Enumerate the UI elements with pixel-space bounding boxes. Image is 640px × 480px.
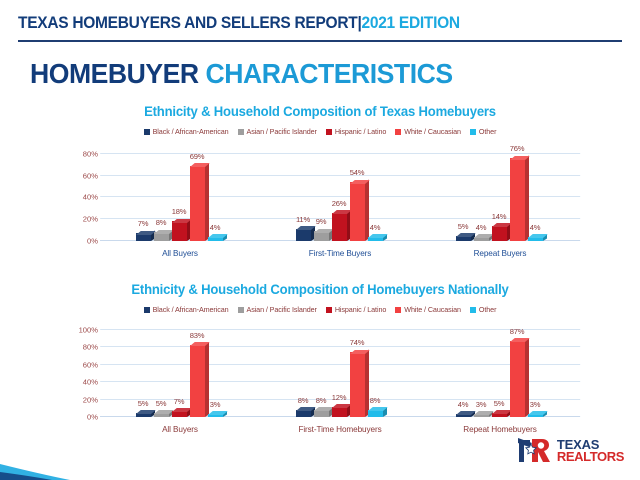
bar[interactable]: 8% bbox=[154, 232, 169, 241]
bar-value-label: 69% bbox=[190, 152, 205, 161]
bar[interactable]: 8% bbox=[314, 410, 329, 417]
legend-item[interactable]: Other bbox=[470, 127, 496, 136]
bar-face bbox=[172, 221, 187, 241]
bar-value-label: 5% bbox=[458, 222, 469, 231]
bar-slot: 5% bbox=[154, 321, 171, 417]
y-axis-tick-label: 60% bbox=[83, 171, 98, 180]
bar-slot: 87% bbox=[510, 321, 527, 417]
x-axis-labels: All BuyersFirst-Time HomebuyersRepeat Ho… bbox=[100, 425, 580, 434]
legend-item[interactable]: Other bbox=[470, 305, 496, 314]
bar-value-label: 87% bbox=[510, 327, 525, 336]
bar-slot: 3% bbox=[474, 321, 491, 417]
y-axis-tick-label: 0% bbox=[87, 413, 98, 422]
y-axis-tick-label: 100% bbox=[79, 325, 98, 334]
bar-slot: 5% bbox=[456, 143, 473, 241]
bar-slot: 4% bbox=[456, 321, 473, 417]
bar[interactable]: 5% bbox=[492, 413, 507, 417]
chart-bars: 5%5%7%83%3%8%8%12%74%8%4%3%5%87%3% bbox=[100, 321, 580, 417]
legend-item[interactable]: Black / African-American bbox=[144, 127, 229, 136]
legend-swatch-icon bbox=[470, 307, 476, 313]
bar-value-label: 3% bbox=[530, 400, 541, 409]
bar[interactable]: 14% bbox=[492, 226, 507, 241]
legend-swatch-icon bbox=[326, 129, 332, 135]
bar-value-label: 5% bbox=[156, 399, 167, 408]
chart-title: Ethnicity & Household Composition of Hom… bbox=[10, 282, 631, 297]
bar-value-label: 8% bbox=[370, 396, 381, 405]
bar[interactable]: 5% bbox=[154, 413, 169, 417]
chart-plot-area: 0%20%40%60%80% 7%8%18%69%4%11%9%26%54%4%… bbox=[60, 143, 580, 255]
bar-slot: 12% bbox=[332, 321, 349, 417]
legend-label: Hispanic / Latino bbox=[335, 305, 386, 314]
y-axis-tick-label: 20% bbox=[83, 215, 98, 224]
bar-value-label: 3% bbox=[476, 400, 487, 409]
bar[interactable]: 7% bbox=[136, 233, 151, 241]
bar-slot: 8% bbox=[368, 321, 385, 417]
bar-slot: 4% bbox=[208, 143, 225, 241]
bar[interactable]: 3% bbox=[528, 414, 543, 417]
legend-item[interactable]: Hispanic / Latino bbox=[326, 127, 386, 136]
bar-face bbox=[332, 407, 347, 417]
report-title: TEXAS HOMEBUYERS AND SELLERS REPORT|2021… bbox=[18, 14, 586, 33]
bar-face bbox=[368, 410, 383, 417]
bar[interactable]: 4% bbox=[456, 414, 471, 417]
bar[interactable]: 8% bbox=[368, 410, 383, 417]
bar-value-label: 7% bbox=[138, 219, 149, 228]
report-title-main: TEXAS HOMEBUYERS AND SELLERS REPORT bbox=[18, 14, 357, 32]
legend-label: Black / African-American bbox=[153, 305, 229, 314]
infographic-page: TEXAS HOMEBUYERS AND SELLERS REPORT|2021… bbox=[0, 0, 640, 480]
bar-value-label: 9% bbox=[316, 217, 327, 226]
legend-label: Hispanic / Latino bbox=[335, 127, 386, 136]
bar-slot: 14% bbox=[492, 143, 509, 241]
bar-group: 5%4%14%76%4% bbox=[420, 143, 580, 241]
bar[interactable]: 4% bbox=[208, 237, 223, 241]
x-axis-category-label: All Buyers bbox=[100, 249, 260, 258]
bar-slot: 76% bbox=[510, 143, 527, 241]
bar[interactable]: 4% bbox=[528, 237, 543, 241]
bar-value-label: 4% bbox=[476, 223, 487, 232]
y-axis-tick-label: 60% bbox=[83, 360, 98, 369]
bar-slot: 4% bbox=[368, 143, 385, 241]
logo-realtors-text: REALTORS bbox=[557, 451, 624, 463]
bar-slot: 26% bbox=[332, 143, 349, 241]
bar-value-label: 4% bbox=[370, 223, 381, 232]
y-axis-tick-label: 20% bbox=[83, 395, 98, 404]
bar-slot: 7% bbox=[172, 321, 189, 417]
x-axis-category-label: Repeat Homebuyers bbox=[420, 425, 580, 434]
legend-label: Other bbox=[479, 305, 496, 314]
legend-label: Asian / Pacific Islander bbox=[247, 305, 317, 314]
bar-face bbox=[492, 226, 507, 241]
x-axis-category-label: First-Time Buyers bbox=[260, 249, 420, 258]
bar-face bbox=[332, 213, 347, 241]
legend-swatch-icon bbox=[144, 307, 150, 313]
legend-label: White / Caucasian bbox=[404, 305, 461, 314]
y-axis-tick-label: 80% bbox=[83, 343, 98, 352]
legend-swatch-icon bbox=[238, 129, 244, 135]
bar-face bbox=[296, 410, 311, 417]
bar-face bbox=[314, 410, 329, 417]
bar-slot: 8% bbox=[314, 321, 331, 417]
legend-swatch-icon bbox=[326, 307, 332, 313]
bar-value-label: 18% bbox=[172, 207, 187, 216]
legend-swatch-icon bbox=[395, 307, 401, 313]
y-axis-tick-label: 0% bbox=[87, 237, 98, 246]
bar-slot: 3% bbox=[528, 321, 545, 417]
bar-value-label: 5% bbox=[138, 399, 149, 408]
legend-item[interactable]: White / Caucasian bbox=[395, 305, 461, 314]
bar-slot: 8% bbox=[154, 143, 171, 241]
bar-value-label: 4% bbox=[458, 400, 469, 409]
bar-value-label: 7% bbox=[174, 397, 185, 406]
bar-slot: 74% bbox=[350, 321, 367, 417]
x-axis-category-label: All Buyers bbox=[100, 425, 260, 434]
bar[interactable]: 69% bbox=[190, 166, 205, 241]
legend-item[interactable]: Asian / Pacific Islander bbox=[238, 305, 317, 314]
x-axis-category-label: First-Time Homebuyers bbox=[260, 425, 420, 434]
legend-label: Black / African-American bbox=[153, 127, 229, 136]
bar-slot: 4% bbox=[528, 143, 545, 241]
legend-swatch-icon bbox=[470, 129, 476, 135]
bar-value-label: 5% bbox=[494, 399, 505, 408]
bar[interactable]: 26% bbox=[332, 213, 347, 241]
bar-value-label: 4% bbox=[210, 223, 221, 232]
bar-slot: 9% bbox=[314, 143, 331, 241]
bar[interactable]: 11% bbox=[296, 229, 311, 241]
report-header: TEXAS HOMEBUYERS AND SELLERS REPORT|2021… bbox=[0, 14, 640, 33]
bar-value-label: 8% bbox=[298, 396, 309, 405]
x-axis-labels: All BuyersFirst-Time BuyersRepeat Buyers bbox=[100, 249, 580, 258]
report-title-separator: | bbox=[357, 14, 361, 32]
y-axis-tick-label: 40% bbox=[83, 193, 98, 202]
bar[interactable]: 54% bbox=[350, 182, 365, 241]
bar-group: 8%8%12%74%8% bbox=[260, 321, 420, 417]
legend-swatch-icon bbox=[144, 129, 150, 135]
y-axis: 0%20%40%60%80% bbox=[60, 143, 100, 255]
bar[interactable]: 18% bbox=[172, 221, 187, 241]
bar-slot: 69% bbox=[190, 143, 207, 241]
bar-value-label: 26% bbox=[332, 199, 347, 208]
bar-slot: 5% bbox=[492, 321, 509, 417]
bar-value-label: 3% bbox=[210, 400, 221, 409]
header-divider bbox=[18, 40, 622, 42]
bar-value-label: 8% bbox=[316, 396, 327, 405]
legend-item[interactable]: White / Caucasian bbox=[395, 127, 461, 136]
bar-face bbox=[510, 341, 525, 417]
bar-slot: 3% bbox=[208, 321, 225, 417]
bar[interactable]: 4% bbox=[474, 237, 489, 241]
legend-swatch-icon bbox=[238, 307, 244, 313]
bar[interactable]: 4% bbox=[368, 237, 383, 241]
y-axis-tick-label: 80% bbox=[83, 149, 98, 158]
chart-national-homebuyers: Ethnicity & Household Composition of Hom… bbox=[0, 282, 640, 431]
bar-slot: 18% bbox=[172, 143, 189, 241]
bar[interactable]: 3% bbox=[208, 414, 223, 417]
chart-legend: Black / African-AmericanAsian / Pacific … bbox=[0, 127, 640, 136]
legend-item[interactable]: Hispanic / Latino bbox=[326, 305, 386, 314]
bar-value-label: 54% bbox=[350, 168, 365, 177]
y-axis: 0%20%40%60%80%100% bbox=[60, 321, 100, 431]
bar[interactable]: 8% bbox=[296, 410, 311, 417]
bar[interactable]: 74% bbox=[350, 352, 365, 417]
page-title-second: CHARACTERISTICS bbox=[206, 58, 453, 89]
chart-legend: Black / African-AmericanAsian / Pacific … bbox=[0, 305, 640, 314]
bar[interactable]: 12% bbox=[332, 407, 347, 417]
bar-value-label: 74% bbox=[350, 338, 365, 347]
corner-swoosh-decoration bbox=[0, 434, 120, 480]
chart-title: Ethnicity & Household Composition of Tex… bbox=[10, 104, 631, 119]
bar-slot: 4% bbox=[474, 143, 491, 241]
legend-item[interactable]: Black / African-American bbox=[144, 305, 229, 314]
bar[interactable]: 5% bbox=[456, 236, 471, 241]
bar-face bbox=[190, 166, 205, 241]
texas-realtors-logo: TEXAS REALTORS bbox=[518, 436, 624, 466]
report-title-edition: 2021 EDITION bbox=[362, 14, 460, 32]
bar-value-label: 76% bbox=[510, 144, 525, 153]
bar-value-label: 12% bbox=[332, 393, 347, 402]
page-title: HOMEBUYER CHARACTERISTICS bbox=[30, 58, 453, 90]
bar-slot: 83% bbox=[190, 321, 207, 417]
legend-label: White / Caucasian bbox=[404, 127, 461, 136]
bar-value-label: 83% bbox=[190, 331, 205, 340]
bar-value-label: 4% bbox=[530, 223, 541, 232]
legend-label: Other bbox=[479, 127, 496, 136]
bar-face bbox=[296, 229, 311, 241]
legend-item[interactable]: Asian / Pacific Islander bbox=[238, 127, 317, 136]
bar-face bbox=[510, 158, 525, 241]
texas-realtors-star-r-mark-icon bbox=[518, 436, 552, 466]
x-axis-category-label: Repeat Buyers bbox=[420, 249, 580, 258]
bar-face bbox=[350, 352, 365, 417]
bar-slot: 11% bbox=[296, 143, 313, 241]
bar-group: 7%8%18%69%4% bbox=[100, 143, 260, 241]
bar-slot: 8% bbox=[296, 321, 313, 417]
bar[interactable]: 9% bbox=[314, 231, 329, 241]
bar-group: 5%5%7%83%3% bbox=[100, 321, 260, 417]
logo-wordmark: TEXAS REALTORS bbox=[557, 439, 624, 464]
bar-value-label: 14% bbox=[492, 212, 507, 221]
bar-face bbox=[350, 182, 365, 241]
bar-group: 11%9%26%54%4% bbox=[260, 143, 420, 241]
bar-group: 4%3%5%87%3% bbox=[420, 321, 580, 417]
bar[interactable]: 7% bbox=[172, 411, 187, 417]
bar-value-label: 8% bbox=[156, 218, 167, 227]
chart-plot-area: 0%20%40%60%80%100% 5%5%7%83%3%8%8%12%74%… bbox=[60, 321, 580, 431]
page-title-first: HOMEBUYER bbox=[30, 58, 199, 89]
bar[interactable]: 76% bbox=[510, 158, 525, 241]
bar-slot: 7% bbox=[136, 143, 153, 241]
bar-slot: 54% bbox=[350, 143, 367, 241]
y-axis-tick-label: 40% bbox=[83, 378, 98, 387]
bar[interactable]: 87% bbox=[510, 341, 525, 417]
bar-slot: 5% bbox=[136, 321, 153, 417]
bar[interactable]: 3% bbox=[474, 414, 489, 417]
legend-swatch-icon bbox=[395, 129, 401, 135]
bar-value-label: 11% bbox=[296, 215, 310, 224]
bar-face bbox=[190, 345, 205, 417]
chart-bars: 7%8%18%69%4%11%9%26%54%4%5%4%14%76%4% bbox=[100, 143, 580, 241]
bar[interactable]: 83% bbox=[190, 345, 205, 417]
chart-texas-homebuyers: Ethnicity & Household Composition of Tex… bbox=[0, 104, 640, 255]
bar[interactable]: 5% bbox=[136, 413, 151, 417]
legend-label: Asian / Pacific Islander bbox=[247, 127, 317, 136]
